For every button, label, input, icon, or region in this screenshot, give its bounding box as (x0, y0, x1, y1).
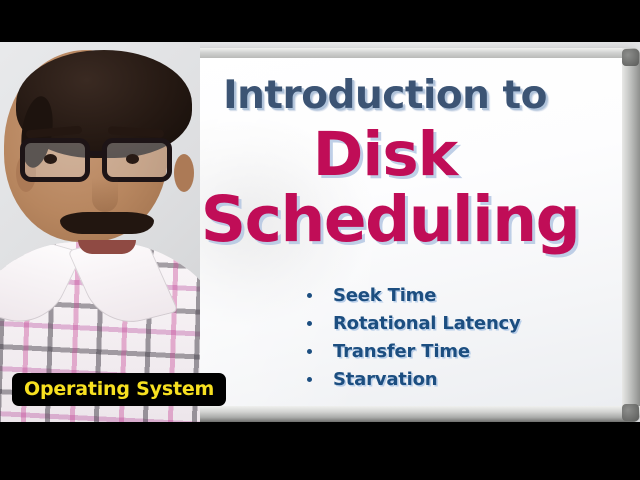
whiteboard-corner-top-right (622, 49, 639, 66)
subject-badge: Operating System (12, 373, 226, 406)
presenter-head (4, 50, 168, 242)
presenter-mustache (60, 212, 154, 234)
presenter-mouth (78, 240, 136, 254)
whiteboard (152, 48, 640, 422)
video-frame: Introduction to Disk Scheduling Seek Tim… (0, 42, 640, 422)
whiteboard-frame-right (622, 48, 640, 422)
presenter-nose (92, 178, 118, 212)
whiteboard-corner-bottom-right (622, 404, 639, 421)
presenter-eye-right (126, 154, 139, 164)
whiteboard-frame-bottom (152, 406, 640, 422)
letterbox-bar-bottom (0, 422, 640, 480)
eyeglass-bridge (88, 151, 106, 156)
presenter-figure (0, 42, 200, 422)
whiteboard-frame-top (152, 48, 640, 58)
whiteboard-surface (154, 57, 623, 407)
presenter-eye-left (44, 154, 57, 164)
letterbox-bar-top (0, 0, 640, 42)
video-thumbnail: Introduction to Disk Scheduling Seek Tim… (0, 0, 640, 480)
